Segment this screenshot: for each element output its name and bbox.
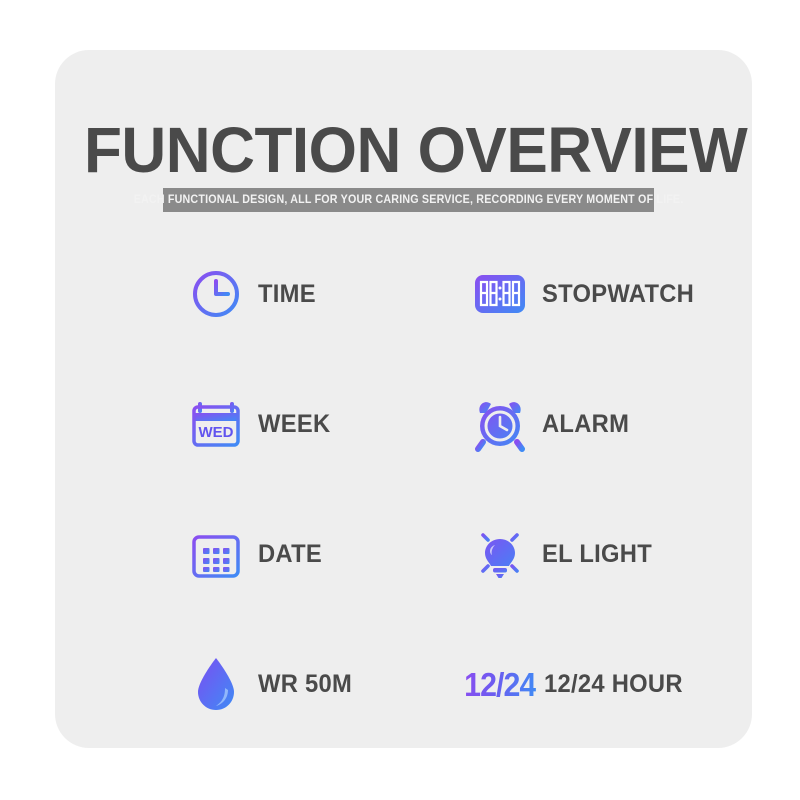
- feature-item-water-resistance[interactable]: WR 50M: [186, 654, 357, 714]
- lightbulb-icon: [470, 524, 530, 584]
- feature-item-alarm[interactable]: ALARM: [470, 394, 634, 454]
- feature-item-stopwatch[interactable]: STOPWATCH: [470, 264, 702, 324]
- twelve-24-icon: 12/24: [470, 654, 530, 714]
- alarm-clock-icon: [470, 394, 530, 454]
- feature-item-week[interactable]: WED WEEK: [186, 394, 334, 454]
- clock-icon: [186, 264, 246, 324]
- stopwatch-icon: [470, 264, 530, 324]
- feature-item-time[interactable]: TIME: [186, 264, 319, 324]
- water-drop-icon: [186, 654, 246, 714]
- feature-label: ALARM: [542, 412, 629, 437]
- feature-label: DATE: [258, 542, 322, 567]
- week-icon: WED: [186, 394, 246, 454]
- feature-item-12-24-hour[interactable]: 12/24 12/24 HOUR: [470, 654, 690, 714]
- feature-grid: TIME: [0, 0, 800, 800]
- feature-item-date[interactable]: DATE: [186, 524, 325, 584]
- feature-label: TIME: [258, 282, 316, 307]
- feature-label: STOPWATCH: [542, 282, 694, 307]
- calendar-icon: [186, 524, 246, 584]
- twelve-24-icon-text: 12/24: [464, 668, 535, 701]
- feature-label: WEEK: [258, 412, 330, 437]
- week-icon-text: WED: [199, 424, 234, 441]
- poster-root: FUNCTION OVERVIEW EACH FUNCTIONAL DESIGN…: [0, 0, 800, 800]
- feature-label: 12/24 HOUR: [544, 672, 683, 697]
- feature-label: WR 50M: [258, 672, 352, 697]
- feature-item-el-light[interactable]: EL LIGHT: [470, 524, 658, 584]
- feature-label: EL LIGHT: [542, 542, 652, 567]
